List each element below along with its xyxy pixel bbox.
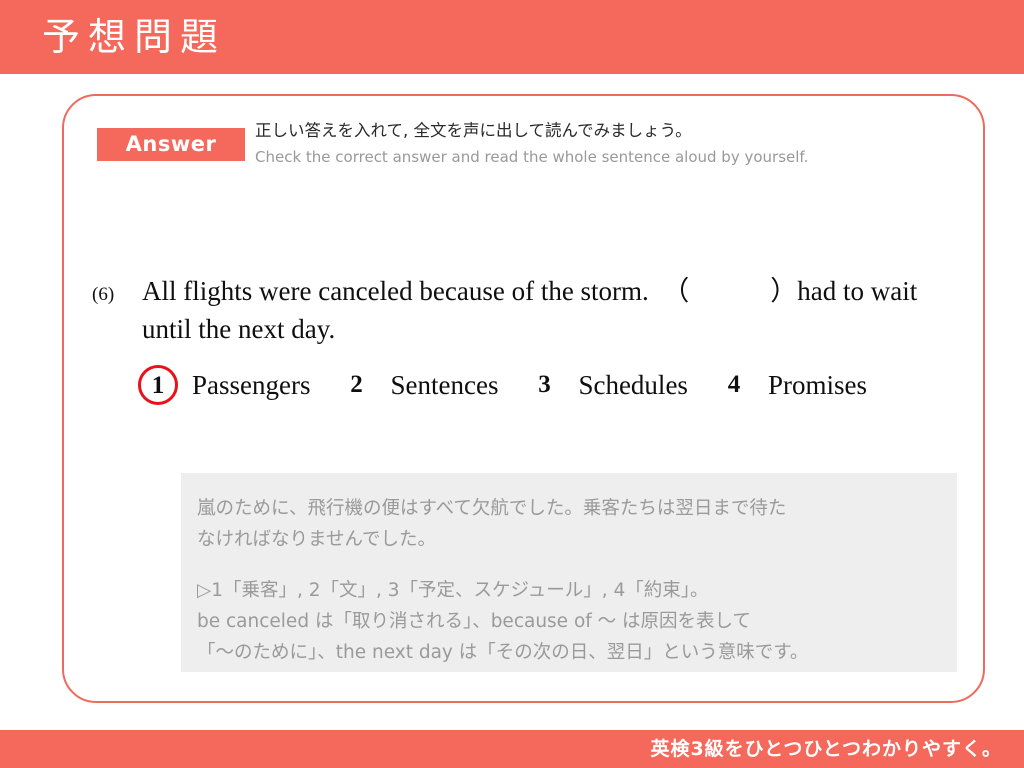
footer-bar: 英検3級をひとつひとつわかりやすく。: [0, 730, 1024, 768]
choice-number-3[interactable]: 3: [524, 371, 564, 399]
choice-option-2[interactable]: 2 Sentences: [336, 370, 524, 401]
question-number: (6): [92, 284, 142, 306]
footer-text: 英検3級をひとつひとつわかりやすく。: [650, 730, 1002, 768]
notes-line-1: ▷1「乗客」, 2「文」, 3「予定、スケジュール」, 4「約束」。: [197, 575, 935, 606]
choice-number-1[interactable]: 1: [138, 365, 178, 405]
choice-label-3[interactable]: Schedules: [578, 370, 687, 401]
choices-row: 1 Passengers 2 Sentences 3 Schedules 4 P…: [138, 365, 867, 405]
answer-badge: Answer: [97, 128, 245, 161]
explanation-box: 嵐のために、飛行機の便はすべて欠航でした。乗客たちは翌日まで待た なければなりま…: [181, 473, 957, 672]
choice-label-1[interactable]: Passengers: [192, 370, 310, 401]
choice-option-4[interactable]: 4 Promises: [714, 370, 867, 401]
choice-number-4[interactable]: 4: [714, 371, 754, 399]
translation-line-2: なければなりませんでした。: [197, 524, 935, 555]
question-line-1: (6) All flights were canceled because of…: [92, 272, 972, 310]
question-text-line-1: All flights were canceled because of the…: [142, 272, 917, 310]
instruction-english: Check the correct answer and read the wh…: [255, 146, 808, 168]
choice-number-2[interactable]: 2: [336, 371, 376, 399]
question-text-line-2: until the next day.: [142, 310, 972, 348]
page-title: 予想問題: [42, 10, 226, 64]
explanation-spacer: [197, 555, 935, 575]
instruction-japanese: 正しい答えを入れて, 全文を声に出して読んでみましょう。: [255, 119, 692, 143]
choice-option-1[interactable]: 1 Passengers: [138, 365, 336, 405]
header-bar: 予想問題: [0, 0, 1024, 74]
notes-line-3: 「〜のために」、the next day は「その次の日、翌日」という意味です。: [197, 637, 935, 668]
choice-label-4[interactable]: Promises: [768, 370, 867, 401]
notes-line-2: be canceled は「取り消される」、because of 〜 は原因を表…: [197, 606, 935, 637]
translation-line-1: 嵐のために、飛行機の便はすべて欠航でした。乗客たちは翌日まで待た: [197, 493, 935, 524]
question-block: (6) All flights were canceled because of…: [92, 272, 972, 348]
choice-option-3[interactable]: 3 Schedules: [524, 370, 713, 401]
choice-label-2[interactable]: Sentences: [390, 370, 498, 401]
